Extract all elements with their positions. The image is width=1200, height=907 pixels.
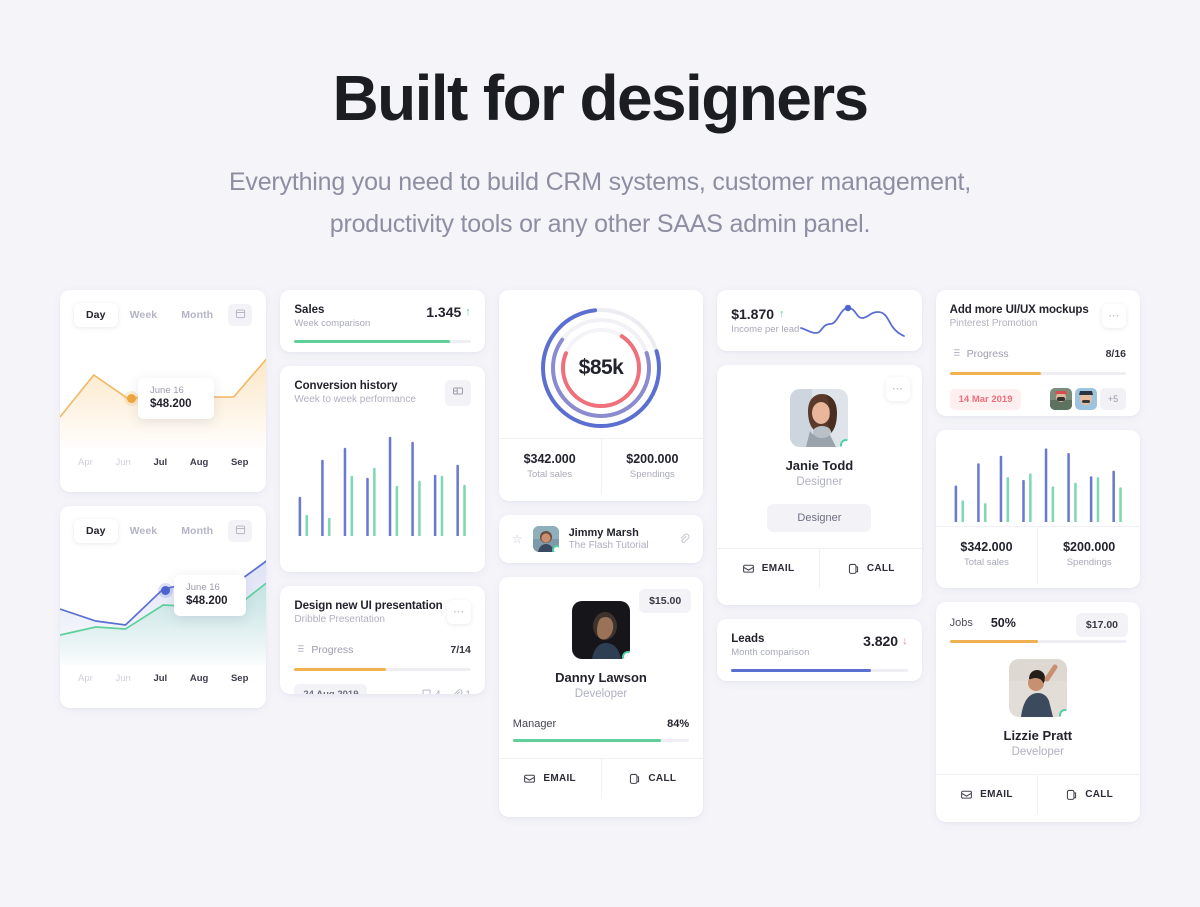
- conversion-bar-chart: [280, 406, 484, 546]
- range-tabs-orange: Day Week Month: [60, 290, 266, 331]
- stat-spendings-label-2: Spendings: [1038, 557, 1140, 568]
- stat-spendings-value-2: $200.000: [1038, 540, 1140, 554]
- leads-card: Leads Month comparison 3.820 ↓: [717, 619, 921, 681]
- income-value: $1.870: [731, 306, 774, 322]
- ellipsis-icon[interactable]: ⋯: [447, 600, 471, 624]
- call-label: CALL: [1085, 789, 1113, 800]
- phone-icon: [1065, 788, 1078, 801]
- ellipsis-icon[interactable]: ⋯: [886, 377, 910, 401]
- tooltip-date: June 16: [150, 385, 202, 396]
- leads-value-group: 3.820 ↓: [863, 633, 908, 649]
- chart-highlight-dot: [127, 394, 136, 403]
- avatar-overflow[interactable]: +5: [1100, 388, 1126, 410]
- page-root: Built for designers Everything you need …: [0, 0, 1200, 907]
- comment-icon: [421, 688, 432, 695]
- conversion-header: Conversion history Week to week performa…: [280, 366, 484, 406]
- donut-wrapper: $85k: [499, 290, 703, 438]
- stat-spendings-2: $200.000 Spendings: [1037, 527, 1140, 583]
- avatar[interactable]: [1050, 388, 1072, 410]
- task-ui-footer: 24 Aug 2019 4: [294, 684, 470, 694]
- stat-total-sales-value-2: $342.000: [936, 540, 1038, 554]
- sales-subtitle: Week comparison: [294, 318, 370, 329]
- task-ui-progress-fill: [294, 668, 386, 671]
- chart-card-orange: Day Week Month: [60, 290, 266, 492]
- chart-icon: [452, 384, 464, 402]
- avatar: [572, 601, 630, 659]
- stat-total-sales-2: $342.000 Total sales: [936, 527, 1038, 583]
- leads-subtitle: Month comparison: [731, 647, 809, 658]
- task-ui-progress-row: Progress 7/14: [294, 641, 470, 659]
- profile-card-danny: $15.00 Danny Lawson Developer Manage: [499, 577, 703, 817]
- calendar-button-2[interactable]: [228, 520, 252, 542]
- tab-week-2[interactable]: Week: [118, 519, 170, 543]
- calendar-icon: [235, 522, 246, 540]
- bars-chart: [936, 430, 1140, 526]
- phone-icon: [847, 562, 860, 575]
- income-sparkline: [800, 304, 908, 338]
- task-mockups-progress-count: 8/16: [1106, 348, 1126, 360]
- arrow-up-icon: ↑: [779, 308, 785, 320]
- profile-danny-skill-row: Manager 84%: [513, 718, 689, 730]
- donut-card: $85k $342.000 Total sales $200.000 Spend…: [499, 290, 703, 501]
- task-mockups-progress-track: [950, 372, 1126, 375]
- area-chart-orange: June 16 $48.200: [60, 331, 266, 449]
- profile-danny-skill-label: Manager: [513, 718, 556, 730]
- page-subtitle: Everything you need to build CRM systems…: [0, 161, 1200, 245]
- axis-label-sep: Sep: [231, 457, 248, 468]
- tooltip-date-2: June 16: [186, 582, 234, 593]
- stat-total-sales: $342.000 Total sales: [499, 439, 601, 495]
- hero-section: Built for designers Everything you need …: [0, 0, 1200, 245]
- task-ui-subtitle: Dribble Presentation: [294, 614, 442, 625]
- profile-card-lizzie: Jobs 50% $17.00: [936, 602, 1140, 822]
- contact-subtitle: The Flash Tutorial: [569, 540, 649, 551]
- axis-label-sep-2: Sep: [231, 673, 248, 684]
- task-ui-progress-track: [294, 668, 470, 671]
- sales-header: Sales Week comparison 1.345 ↑: [294, 304, 470, 329]
- subtitle-line-2: productivity tools or any other SAAS adm…: [330, 210, 871, 238]
- profile-danny-role: Developer: [513, 688, 689, 700]
- task-mockups-progress-row: Progress 8/16: [950, 345, 1126, 363]
- contact-text: Jimmy Marsh The Flash Tutorial: [569, 527, 649, 551]
- call-button[interactable]: CALL: [1037, 775, 1140, 814]
- income-value-group: $1.870 ↑: [731, 306, 799, 322]
- income-label: Income per lead: [731, 324, 799, 335]
- column-5: Add more UI/UX mockups Pinterest Promoti…: [936, 290, 1140, 822]
- attachment-count: 1: [466, 689, 471, 694]
- arrow-up-icon: ↑: [465, 306, 471, 318]
- phone-icon: [628, 772, 641, 785]
- conversion-history-card: Conversion history Week to week performa…: [280, 366, 484, 572]
- profile-danny-skill-percent: 84%: [667, 718, 689, 730]
- page-title: Built for designers: [0, 66, 1200, 131]
- jobs-header: Jobs 50% $17.00: [936, 602, 1140, 630]
- sales-value-group: 1.345 ↑: [426, 304, 471, 320]
- axis-label-apr-2: Apr: [78, 673, 93, 684]
- email-button[interactable]: EMAIL: [936, 775, 1038, 814]
- axis-label-aug-2: Aug: [190, 673, 208, 684]
- email-label: EMAIL: [980, 789, 1013, 800]
- leads-progress-track: [731, 669, 907, 672]
- stat-spendings: $200.000 Spendings: [601, 439, 704, 495]
- column-4: $1.870 ↑ Income per lead: [717, 290, 921, 822]
- comment-count: 4: [435, 689, 440, 694]
- subtitle-line-1: Everything you need to build CRM systems…: [229, 168, 971, 196]
- profile-danny-price: $15.00: [639, 589, 691, 613]
- avatar: [1009, 659, 1067, 717]
- task-mockups-avatars: +5: [1050, 388, 1126, 410]
- chart-tooltip-orange: June 16 $48.200: [138, 378, 214, 419]
- calendar-icon: [235, 306, 246, 324]
- stat-total-sales-label-2: Total sales: [936, 557, 1038, 568]
- contact-name: Jimmy Marsh: [569, 527, 649, 539]
- task-ui-meta: 4 1: [421, 688, 471, 695]
- column-2: Sales Week comparison 1.345 ↑ Conversio: [280, 290, 484, 822]
- tooltip-value-2: $48.200: [186, 595, 234, 607]
- task-ui-date-chip[interactable]: 24 Aug 2019: [294, 684, 367, 694]
- envelope-icon: [742, 562, 755, 575]
- sales-title: Sales: [294, 304, 370, 316]
- income-card: $1.870 ↑ Income per lead: [717, 290, 921, 351]
- column-3: $85k $342.000 Total sales $200.000 Spend…: [499, 290, 703, 822]
- profile-lizzie-body: Lizzie Pratt Developer: [936, 643, 1140, 774]
- task-ui-header: Design new UI presentation Dribble Prese…: [294, 600, 470, 625]
- donut-chart: $85k: [537, 304, 665, 432]
- task-ui-progress-label: Progress: [311, 644, 353, 656]
- task-card-ui-presentation: Design new UI presentation Dribble Prese…: [280, 586, 484, 694]
- online-badge: [1059, 709, 1067, 717]
- envelope-icon: [523, 772, 536, 785]
- arrow-down-icon: ↓: [902, 635, 908, 647]
- email-label: EMAIL: [543, 773, 576, 784]
- online-badge: [552, 545, 559, 552]
- stat-total-sales-label: Total sales: [499, 469, 601, 480]
- profile-danny-skill-fill: [513, 739, 661, 742]
- leads-header: Leads Month comparison 3.820 ↓: [731, 633, 907, 658]
- avatar: [533, 526, 559, 552]
- task-card-mockups: Add more UI/UX mockups Pinterest Promoti…: [936, 290, 1140, 416]
- bars-stats-card: $342.000 Total sales $200.000 Spendings: [936, 430, 1140, 588]
- chart-card-blue: Day Week Month: [60, 506, 266, 708]
- list-icon: [950, 345, 961, 363]
- stat-spendings-value: $200.000: [602, 452, 704, 466]
- attachment-meta: 1: [452, 688, 471, 695]
- call-button[interactable]: CALL: [819, 549, 922, 588]
- avatar: [790, 389, 848, 447]
- axis-label-jun-2: Jun: [115, 673, 130, 684]
- profile-janie-body: ⋯ Janie Todd D: [717, 365, 921, 548]
- email-label: EMAIL: [762, 563, 795, 574]
- comment-meta: 4: [421, 688, 440, 695]
- online-badge: [840, 439, 848, 447]
- tab-week[interactable]: Week: [118, 303, 170, 327]
- email-button[interactable]: EMAIL: [717, 549, 819, 588]
- star-icon[interactable]: ☆: [512, 532, 523, 546]
- profile-janie-role-chip[interactable]: Designer: [767, 504, 871, 532]
- call-label: CALL: [867, 563, 895, 574]
- area-chart-blue: June 16 $48.200: [60, 547, 266, 665]
- task-mockups-header: Add more UI/UX mockups Pinterest Promoti…: [950, 304, 1126, 329]
- income-text: $1.870 ↑ Income per lead: [731, 306, 799, 335]
- paperclip-icon: [452, 688, 463, 695]
- tooltip-value: $48.200: [150, 398, 202, 410]
- jobs-label: Jobs: [950, 617, 973, 629]
- task-ui-title: Design new UI presentation: [294, 600, 442, 612]
- paperclip-icon[interactable]: [678, 532, 690, 547]
- profile-janie-role: Designer: [731, 476, 907, 488]
- list-icon: [294, 641, 305, 659]
- task-mockups-progress-fill: [950, 372, 1042, 375]
- chart-tooltip-blue: June 16 $48.200: [174, 575, 246, 616]
- tab-day[interactable]: Day: [74, 303, 118, 327]
- profile-lizzie-price: $17.00: [1076, 613, 1128, 637]
- sparkline-highlight-dot: [844, 304, 850, 310]
- profile-janie-name: Janie Todd: [731, 458, 907, 473]
- task-mockups-subtitle: Pinterest Promotion: [950, 318, 1089, 329]
- sales-progress-fill: [294, 340, 449, 343]
- conversion-subtitle: Week to week performance: [294, 394, 416, 405]
- profile-janie-actions: EMAIL CALL: [717, 548, 921, 588]
- profile-danny-name: Danny Lawson: [513, 670, 689, 685]
- chart-highlight-dot-2: [161, 586, 170, 595]
- call-label: CALL: [648, 773, 676, 784]
- cards-board: Day Week Month: [60, 290, 1140, 822]
- axis-label-aug: Aug: [190, 457, 208, 468]
- call-button[interactable]: CALL: [601, 759, 704, 798]
- profile-danny-body: $15.00 Danny Lawson Developer Manage: [499, 577, 703, 758]
- x-axis-blue: Apr Jun Jul Aug Sep: [60, 665, 266, 700]
- task-ui-progress-count: 7/14: [450, 644, 470, 656]
- column-1: Day Week Month: [60, 290, 266, 822]
- profile-lizzie-name: Lizzie Pratt: [950, 728, 1126, 743]
- leads-value: 3.820: [863, 633, 898, 649]
- online-badge: [622, 651, 630, 659]
- conversion-chart-button[interactable]: [445, 380, 471, 406]
- leads-progress-fill: [731, 669, 870, 672]
- sales-progress-track: [294, 340, 470, 343]
- leads-title: Leads: [731, 633, 809, 645]
- axis-label-apr: Apr: [78, 457, 93, 468]
- tab-month[interactable]: Month: [169, 303, 225, 327]
- profile-card-janie: ⋯ Janie Todd D: [717, 365, 921, 605]
- envelope-icon: [960, 788, 973, 801]
- tab-day-2[interactable]: Day: [74, 519, 118, 543]
- axis-label-jun: Jun: [115, 457, 130, 468]
- axis-label-jul: Jul: [153, 457, 167, 468]
- x-axis-orange: Apr Jun Jul Aug Sep: [60, 449, 266, 484]
- avatar[interactable]: [1075, 388, 1097, 410]
- profile-lizzie-actions: EMAIL CALL: [936, 774, 1140, 814]
- profile-danny-actions: EMAIL CALL: [499, 758, 703, 798]
- task-mockups-date-chip[interactable]: 14 Mar 2019: [950, 389, 1022, 410]
- email-button[interactable]: EMAIL: [499, 759, 601, 798]
- task-mockups-progress-label: Progress: [967, 348, 1009, 360]
- conversion-title: Conversion history: [294, 380, 416, 392]
- profile-danny-skill-track: [513, 739, 689, 742]
- donut-stats: $342.000 Total sales $200.000 Spendings: [499, 438, 703, 495]
- sales-card: Sales Week comparison 1.345 ↑: [280, 290, 484, 352]
- calendar-button[interactable]: [228, 304, 252, 326]
- profile-lizzie-role: Developer: [950, 746, 1126, 758]
- axis-label-jul-2: Jul: [153, 673, 167, 684]
- stat-total-sales-value: $342.000: [499, 452, 601, 466]
- bars-stats: $342.000 Total sales $200.000 Spendings: [936, 526, 1140, 583]
- jobs-percent: 50%: [991, 616, 1016, 630]
- income-body: $1.870 ↑ Income per lead: [717, 290, 921, 351]
- task-mockups-title: Add more UI/UX mockups: [950, 304, 1089, 316]
- range-tabs-blue: Day Week Month: [60, 506, 266, 547]
- sales-value: 1.345: [426, 304, 461, 320]
- donut-center-value: $85k: [537, 304, 665, 432]
- stat-spendings-label: Spendings: [602, 469, 704, 480]
- task-mockups-footer: 14 Mar 2019: [950, 388, 1126, 410]
- tab-month-2[interactable]: Month: [169, 519, 225, 543]
- contact-row-jimmy[interactable]: ☆ Jimmy Marsh The Flash Tutorial: [499, 515, 703, 563]
- ellipsis-icon[interactable]: ⋯: [1102, 304, 1126, 328]
